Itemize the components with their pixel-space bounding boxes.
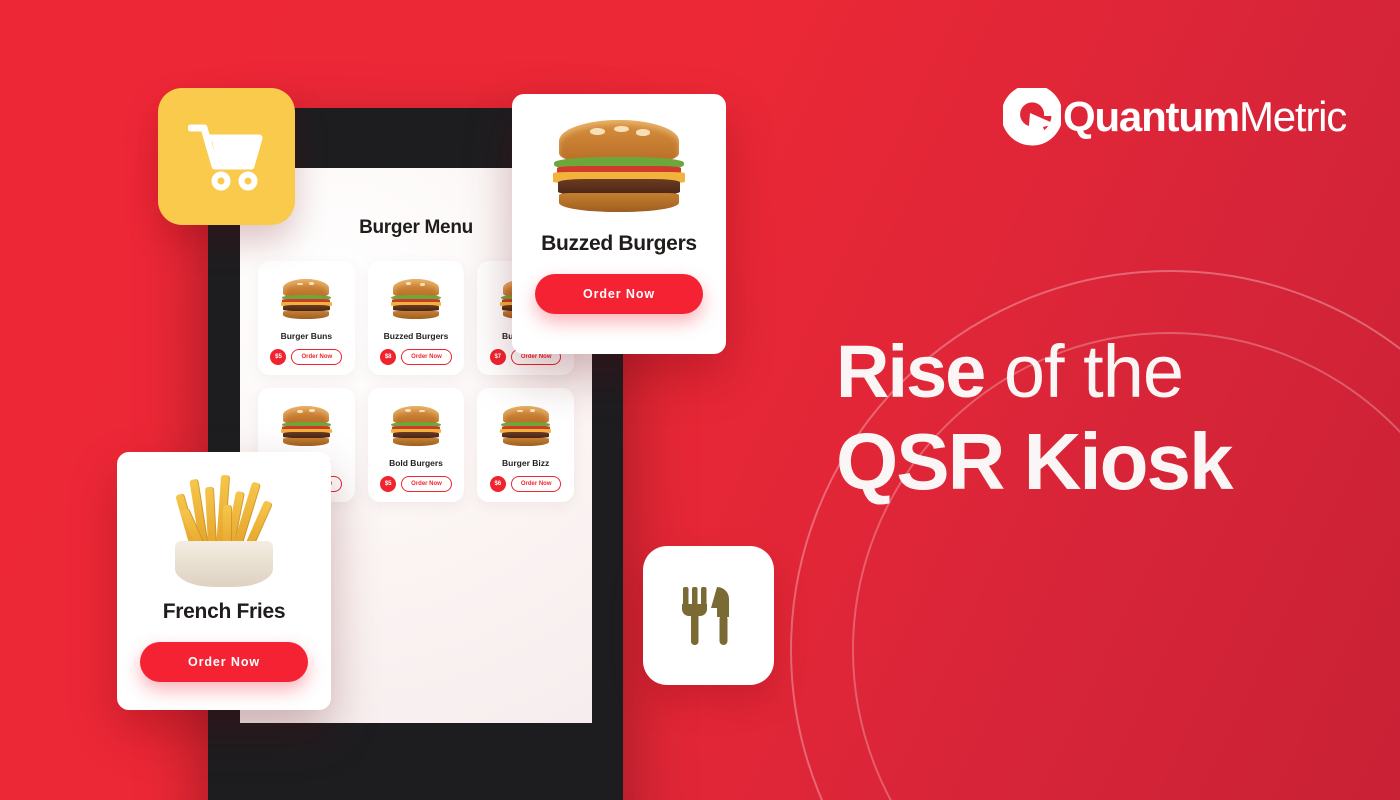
promo-banner: Burger Menu Burger Buns $5 [0, 0, 1400, 800]
logo-word-quantum: Quantum [1063, 93, 1239, 140]
cutlery-icon-tile[interactable] [643, 546, 774, 685]
menu-card[interactable]: Burger Buns $5 Order Now [258, 261, 355, 375]
order-now-button[interactable]: Order Now [511, 476, 562, 492]
burger-illustration [283, 406, 329, 446]
product-image [137, 472, 311, 590]
cart-icon-tile[interactable] [158, 88, 295, 225]
menu-card[interactable]: Burger Bizz $6 Order Now [477, 388, 574, 502]
burger-illustration [503, 406, 549, 446]
product-title: Buzzed Burgers [532, 232, 706, 256]
burger-thumbnail [374, 400, 459, 452]
shopping-cart-icon [188, 122, 266, 192]
order-now-button[interactable]: Order Now [401, 476, 452, 492]
product-card-french-fries[interactable]: French Fries Order Now [117, 452, 331, 710]
order-now-button[interactable]: Order Now [140, 642, 308, 682]
product-image [532, 116, 706, 216]
price-badge: $6 [490, 476, 506, 492]
price-badge: $5 [270, 349, 286, 365]
fork-and-knife-icon [678, 585, 740, 647]
menu-item-name: Burger Buns [264, 331, 349, 341]
price-badge: $8 [380, 349, 396, 365]
logo-word-metric: Metric [1239, 93, 1346, 140]
headline-line-2: QSR Kiosk [836, 421, 1231, 503]
burger-thumbnail [264, 400, 349, 452]
price-badge: $7 [490, 349, 506, 365]
burger-thumbnail [374, 273, 459, 325]
order-now-button[interactable]: Order Now [401, 349, 452, 365]
order-now-button[interactable]: Order Now [535, 274, 703, 314]
burger-illustration [393, 279, 439, 319]
burger-illustration [559, 120, 679, 212]
logo-wordmark: QuantumMetric [1063, 96, 1346, 138]
quantum-metric-logo[interactable]: QuantumMetric [1003, 86, 1346, 148]
headline-line-1: Rise of the [836, 334, 1231, 409]
order-now-button[interactable]: Order Now [291, 349, 342, 365]
menu-item-name: Bold Burgers [374, 458, 459, 468]
burger-thumbnail [483, 400, 568, 452]
burger-illustration [283, 279, 329, 319]
product-title: French Fries [137, 600, 311, 624]
headline-of-the: of the [984, 330, 1183, 413]
price-badge: $5 [380, 476, 396, 492]
page-title: Rise of the QSR Kiosk [836, 334, 1231, 503]
menu-card[interactable]: Bold Burgers $5 Order Now [368, 388, 465, 502]
quantum-q-cursor-icon [1003, 88, 1061, 146]
headline-rise: Rise [836, 330, 984, 413]
burger-illustration [393, 406, 439, 446]
burger-thumbnail [264, 273, 349, 325]
menu-card[interactable]: Buzzed Burgers $8 Order Now [368, 261, 465, 375]
menu-item-name: Burger Bizz [483, 458, 568, 468]
menu-item-name: Buzzed Burgers [374, 331, 459, 341]
french-fries-illustration [159, 475, 289, 587]
product-card-buzzed-burgers[interactable]: Buzzed Burgers Order Now [512, 94, 726, 354]
